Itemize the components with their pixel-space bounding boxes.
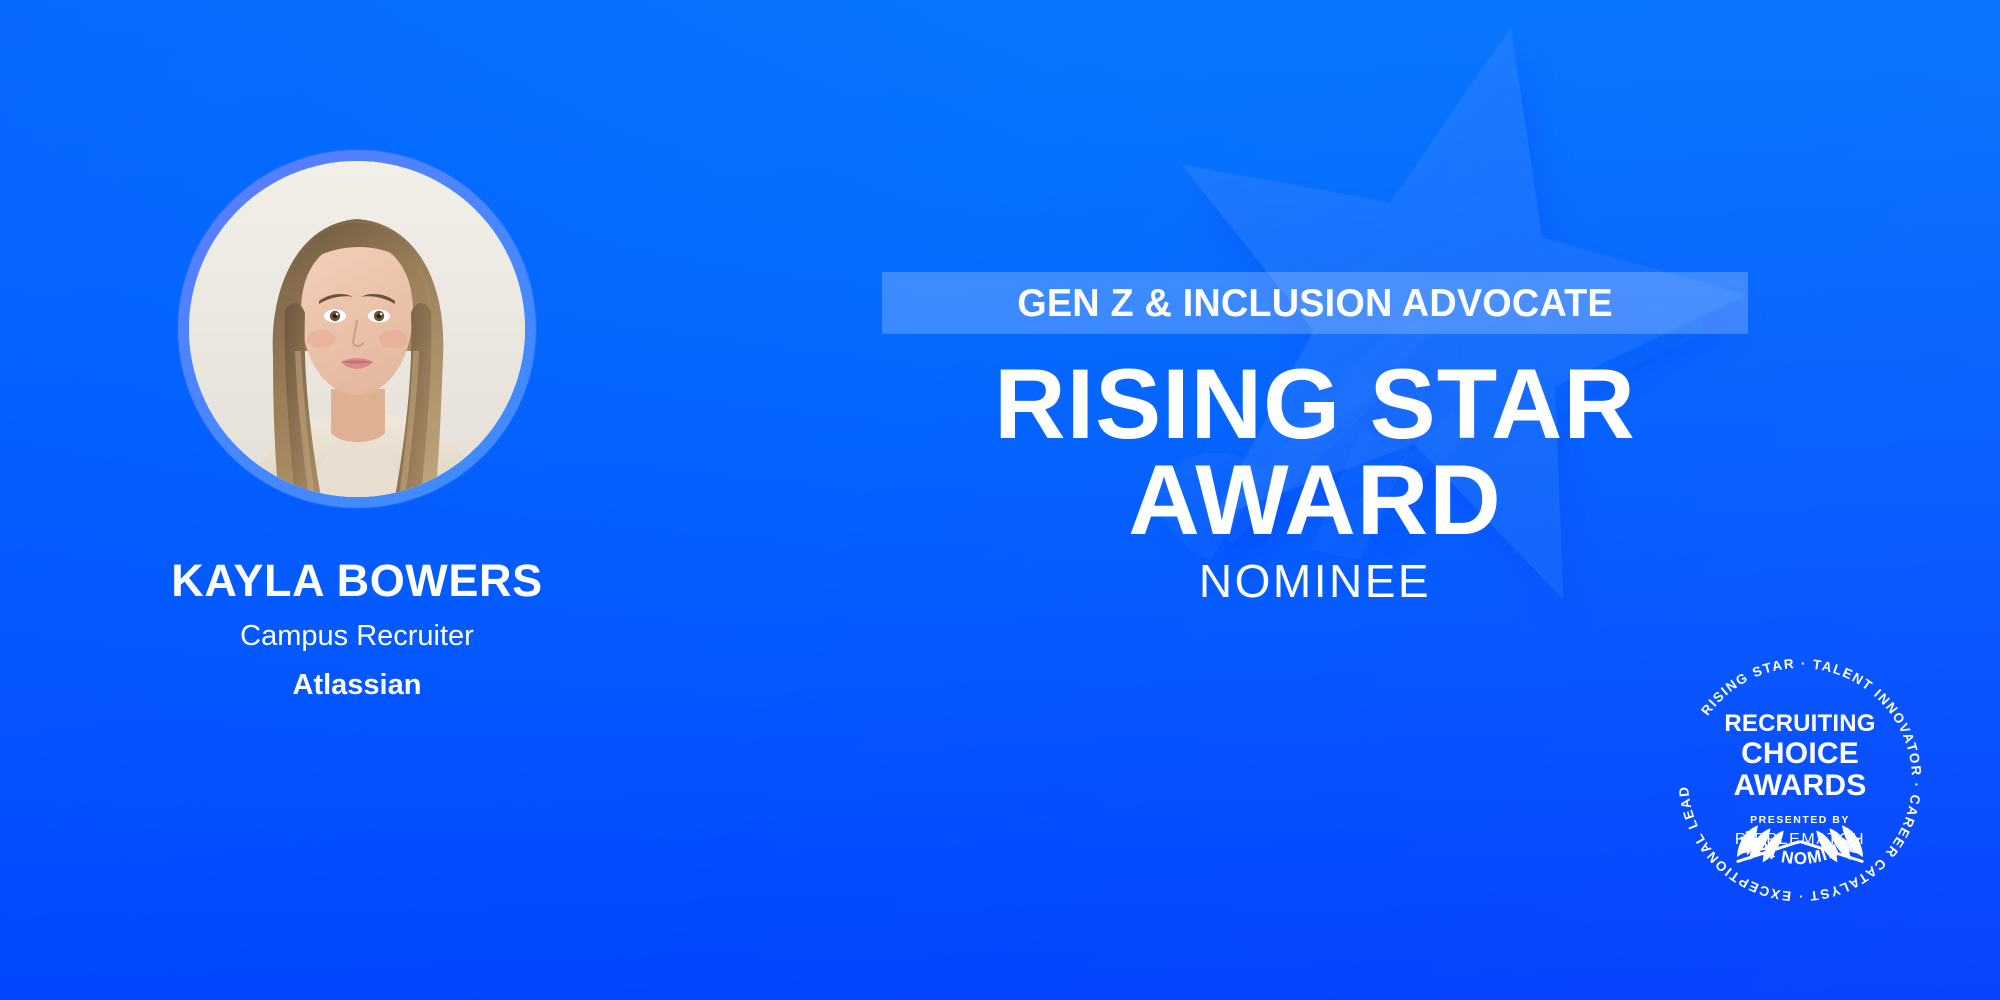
laurel-wreath-icon	[1727, 811, 1873, 879]
award-graphic-canvas: KAYLA BOWERS Campus Recruiter Atlassian …	[0, 0, 2000, 1000]
award-title-line2: AWARD	[882, 452, 1748, 548]
award-lockup: GEN Z & INCLUSION ADVOCATE RISING STAR A…	[882, 272, 1762, 604]
award-status: NOMINEE	[882, 558, 1748, 604]
avatar	[189, 161, 525, 497]
award-category-label: GEN Z & INCLUSION ADVOCATE	[1017, 284, 1613, 323]
award-title: RISING STAR AWARD	[882, 356, 1748, 548]
recruiting-choice-awards-seal: RISING STAR · TALENT INNOVATOR · CAREER …	[1665, 645, 1935, 915]
nominee-company: Atlassian	[293, 671, 422, 700]
nominee-role: Campus Recruiter	[240, 622, 474, 651]
nominee-name: KAYLA BOWERS	[171, 558, 542, 603]
avatar-ring	[178, 150, 536, 508]
headshot-portrait-illustration	[189, 161, 525, 497]
nominee-profile: KAYLA BOWERS Campus Recruiter Atlassian	[72, 150, 642, 700]
award-category-banner: GEN Z & INCLUSION ADVOCATE	[882, 272, 1748, 334]
award-title-line1: RISING STAR	[994, 348, 1636, 459]
